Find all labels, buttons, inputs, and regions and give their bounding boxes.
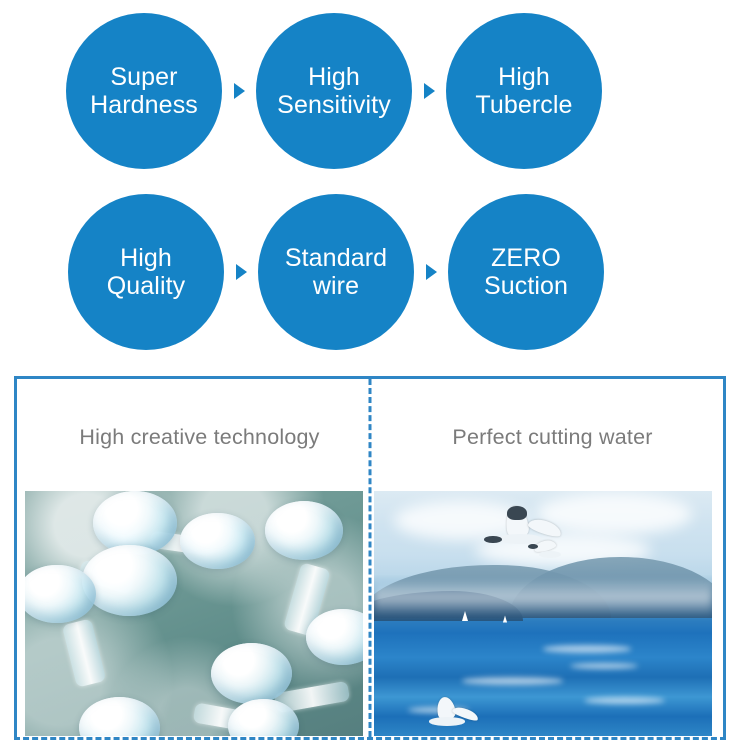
showcase-vertical-divider — [369, 379, 372, 737]
seagull-small-icon — [526, 540, 573, 565]
feature-label-line-2: Sensitivity — [277, 91, 391, 119]
showcase-cell-left: High creative technology — [17, 379, 370, 737]
feature-label-line-2: wire — [313, 272, 359, 300]
feature-circle-standard-wire[interactable]: Standard wire — [258, 194, 414, 350]
flow-arrow-3 — [224, 194, 258, 350]
feature-label-line-1: High — [308, 63, 360, 91]
feature-label-line-2: Tubercle — [475, 91, 572, 119]
seagull-lower-icon — [415, 697, 489, 736]
feature-label-line-1: Standard — [285, 244, 387, 272]
flow-arrow-2 — [412, 13, 446, 169]
feature-circle-high-quality[interactable]: High Quality — [68, 194, 224, 350]
feature-row-1: Super Hardness High Sensitivity High Tub… — [0, 2, 750, 180]
showcase-caption-left: High creative technology — [23, 425, 390, 450]
feature-circle-high-tubercle[interactable]: High Tubercle — [446, 13, 602, 169]
triangle-right-icon — [236, 264, 247, 280]
feature-label-line-1: ZERO — [491, 244, 561, 272]
showcase-panel: High creative technology — [14, 376, 726, 740]
molecular-ice-structure-image — [25, 491, 363, 736]
flow-arrow-1 — [222, 13, 256, 169]
feature-row-2: High Quality Standard wire ZERO Suction — [0, 183, 750, 361]
feature-circle-high-sensitivity[interactable]: High Sensitivity — [256, 13, 412, 169]
feature-circle-zero-suction[interactable]: ZERO Suction — [448, 194, 604, 350]
feature-label-line-2: Suction — [484, 272, 568, 300]
triangle-right-icon — [424, 83, 435, 99]
flow-arrow-4 — [414, 194, 448, 350]
triangle-right-icon — [234, 83, 245, 99]
molecule-artwork — [25, 491, 363, 736]
seascape-artwork — [374, 491, 712, 736]
feature-label-line-2: Hardness — [90, 91, 198, 119]
feature-circle-super-hardness[interactable]: Super Hardness — [66, 13, 222, 169]
feature-label-line-1: Super — [110, 63, 177, 91]
feature-label-line-2: Quality — [107, 272, 186, 300]
feature-label-line-1: High — [498, 63, 550, 91]
showcase-caption-right: Perfect cutting water — [376, 425, 737, 450]
triangle-right-icon — [426, 264, 437, 280]
feature-label-line-1: High — [120, 244, 172, 272]
feature-circles-section: Super Hardness High Sensitivity High Tub… — [0, 0, 750, 362]
showcase-cell-right: Perfect cutting water — [370, 379, 723, 737]
seagull-over-blue-sea-image — [374, 491, 712, 736]
showcase-inner: High creative technology — [17, 379, 723, 737]
